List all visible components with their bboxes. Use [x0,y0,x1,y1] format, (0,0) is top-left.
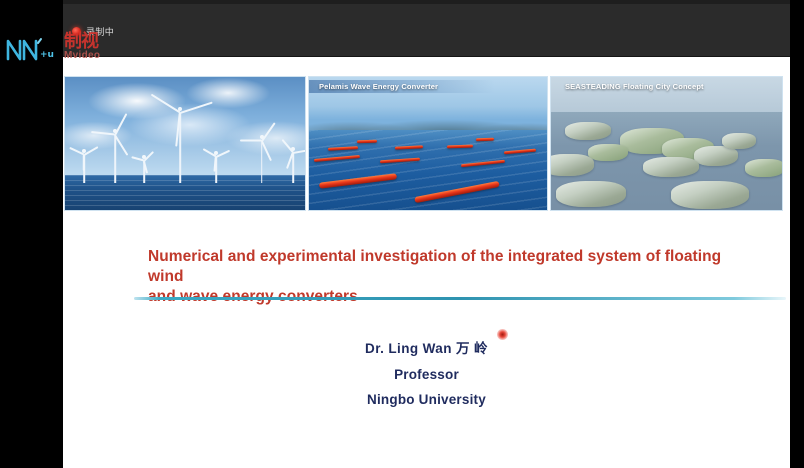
sea-background [65,175,305,210]
floating-island [588,144,628,161]
floating-island [671,181,749,209]
floating-island [722,133,756,149]
floating-island [556,181,626,207]
floating-island [643,157,699,177]
title-divider-rule [134,297,786,300]
photo-caption: Pelamis Wave Energy Converter [309,80,547,93]
floating-island [565,122,611,140]
recording-status-label: 录制中 [86,25,114,38]
pelamis-wave-converter-photo: Pelamis Wave Energy Converter [308,76,548,211]
author-name: Dr. Ling Wan 万 岭 [63,337,790,357]
presentation-slide: Pelamis Wave Energy Converter SEASTEADIN… [63,57,790,468]
recorder-topbar: 录制中 [63,0,790,57]
floating-island [694,146,738,166]
screen-recording-frame: +u 录制中 制视 Mvideo [0,0,804,468]
floating-island [745,159,783,177]
recording-indicator: 录制中 [72,25,114,38]
offshore-wind-farm-photo [64,76,306,211]
svg-text:+u: +u [40,50,54,60]
photo-caption: SEASTEADING Floating City Concept [551,80,782,93]
record-dot-icon [72,27,81,36]
floating-island [550,154,594,176]
pelamis-device [357,139,377,142]
seasteading-floating-city-photo: SEASTEADING Floating City Concept [550,76,783,211]
author-affiliation: Ningbo University [63,392,790,407]
slide-image-strip: Pelamis Wave Energy Converter SEASTEADIN… [64,76,784,211]
slide-title-line-1: Numerical and experimental investigation… [148,247,748,287]
author-block: Dr. Ling Wan 万 岭 Professor Ningbo Univer… [63,337,790,417]
recorder-logo: +u [2,32,62,66]
author-role: Professor [63,367,790,382]
